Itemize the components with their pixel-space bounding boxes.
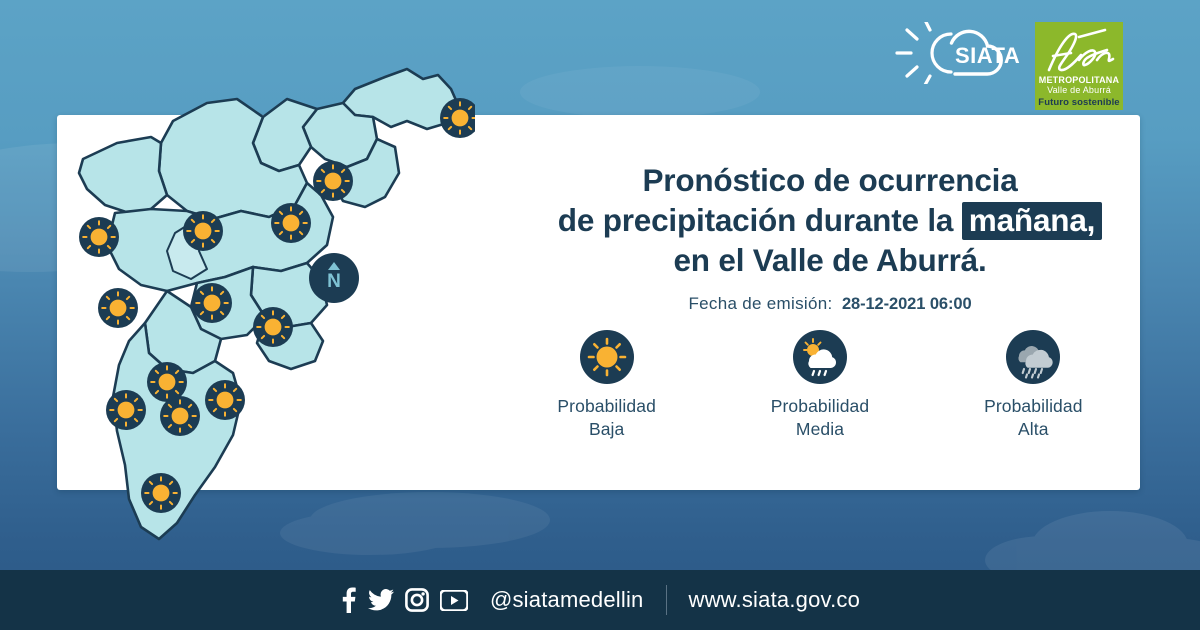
page-title: Pronóstico de ocurrencia de precipitació… [520,160,1140,280]
compass-north-indicator: N [309,253,359,303]
legend-item-alta[interactable]: Probabilidad Alta [938,330,1128,441]
instagram-icon[interactable] [405,588,429,612]
legend-label-media-line1: Probabilidad [725,395,915,418]
emission-date: Fecha de emisión: 28-12-2021 06:00 [520,294,1140,314]
legend-label-baja-line2: Baja [512,418,702,441]
youtube-icon[interactable] [440,590,468,611]
compass-label: N [327,271,341,292]
title-line-3: en el Valle de Aburrá. [520,240,1140,280]
legend-label-alta-line1: Probabilidad [938,395,1128,418]
area-metropolitana-logo[interactable]: METROPOLITANA Valle de Aburrá Futuro sos… [1035,22,1123,110]
website-url[interactable]: www.siata.gov.co [689,587,861,613]
title-line-2-text: de precipitación durante la [558,202,953,238]
legend-label-baja-line1: Probabilidad [512,395,702,418]
title-highlight-period: mañana, [962,202,1102,240]
twitter-icon[interactable] [368,589,394,611]
valle-de-aburra-map[interactable]: N [55,55,475,575]
legend-item-baja[interactable]: Probabilidad Baja [512,330,702,441]
footer-bar: @siatamedellin www.siata.gov.co [0,570,1200,630]
area-script-icon [1035,24,1123,82]
area-wordmark: METROPOLITANA Valle de Aburrá [1035,75,1123,95]
facebook-icon[interactable] [340,587,357,613]
siata-logo-text: SIATA [955,43,1020,68]
map-marker[interactable] [98,288,138,328]
map-marker[interactable] [192,283,232,323]
social-handle[interactable]: @siatamedellin [490,587,644,613]
map-marker[interactable] [147,362,187,402]
map-marker[interactable] [205,380,245,420]
logo-group: SIATA METROPOLITANA Valle de Aburrá Futu… [893,22,1123,110]
footer-divider [666,585,667,615]
legend-item-media[interactable]: Probabilidad Media [725,330,915,441]
map-marker[interactable] [141,473,181,513]
emission-date-label: Fecha de emisión: [688,294,832,313]
siata-logo-mark: SIATA [893,22,1021,84]
sun-icon [580,330,634,384]
social-icon-group [340,587,468,613]
map-marker[interactable] [79,217,119,257]
cloud-rain-icon [1006,330,1060,384]
map-marker[interactable] [253,307,293,347]
title-line-1: Pronóstico de ocurrencia [520,160,1140,200]
title-line-2: de precipitación durante la mañana, [520,200,1140,240]
legend-label-media: Probabilidad Media [725,395,915,441]
map-marker[interactable] [313,161,353,201]
legend-label-media-line2: Media [725,418,915,441]
area-tagline: Futuro sostenible [1035,97,1123,108]
legend-label-alta: Probabilidad Alta [938,395,1128,441]
legend-label-alta-line2: Alta [938,418,1128,441]
area-wordmark-line1: METROPOLITANA [1035,75,1123,85]
map-marker[interactable] [271,203,311,243]
map-marker[interactable] [106,390,146,430]
legend-label-baja: Probabilidad Baja [512,395,702,441]
siata-logo[interactable]: SIATA [893,22,1021,84]
probability-legend: Probabilidad Baja [500,330,1140,441]
area-wordmark-line2: Valle de Aburrá [1035,85,1123,95]
emission-date-value: 28-12-2021 06:00 [842,295,972,313]
map-marker[interactable] [183,211,223,251]
sun-cloud-rain-icon [793,330,847,384]
map-marker[interactable] [160,396,200,436]
infographic-canvas: SIATA METROPOLITANA Valle de Aburrá Futu… [0,0,1200,630]
forecast-text-block: Pronóstico de ocurrencia de precipitació… [520,160,1140,314]
